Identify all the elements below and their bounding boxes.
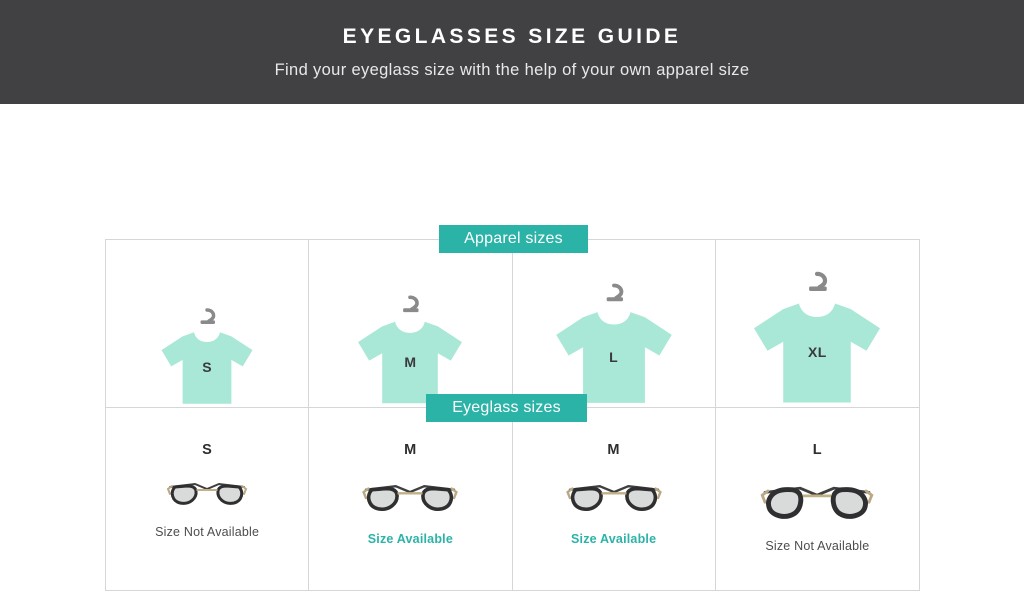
page-title: EYEGLASSES SIZE GUIDE: [343, 25, 682, 49]
eyeglass-cell-l: L Size Not Available: [716, 408, 919, 591]
availability-label: Size Available: [571, 532, 656, 546]
eyeglasses-icon: [360, 474, 460, 515]
apparel-size-label: M: [404, 354, 416, 370]
eyeglass-cell-m-1: M Size Available: [309, 408, 512, 591]
apparel-cell-m: M: [309, 240, 512, 408]
tshirt-graphic-xl: XL: [749, 269, 885, 407]
eyeglass-sizes-banner: Eyeglass sizes: [426, 394, 587, 422]
tshirt-graphic-m: M: [354, 293, 466, 407]
eyeglass-cell-m-2: M Size Available: [513, 408, 716, 591]
apparel-sizes-banner: Apparel sizes: [439, 225, 588, 253]
size-guide-table-area: Apparel sizes Eyeglass sizes S: [0, 104, 1024, 518]
apparel-size-label: L: [609, 349, 618, 365]
apparel-cell-l: L: [513, 240, 716, 408]
eyeglass-size-label: M: [404, 442, 416, 458]
eyeglass-size-label: M: [607, 442, 619, 458]
apparel-size-label: XL: [808, 344, 827, 360]
availability-label: Size Not Available: [155, 525, 259, 539]
eyeglasses-icon: [564, 474, 664, 515]
apparel-size-label: S: [202, 359, 212, 375]
apparel-cell-xl: XL: [716, 240, 919, 408]
eyeglass-cell-s: S Size Not Available: [106, 408, 309, 591]
eyeglasses-icon: [165, 474, 249, 508]
availability-label: Size Not Available: [765, 539, 869, 553]
eyeglass-size-label: S: [202, 442, 212, 458]
tshirt-graphic-s: S: [158, 306, 256, 407]
tshirt-graphic-l: L: [552, 281, 676, 407]
eyeglasses-icon: [758, 474, 876, 522]
page-subtitle: Find your eyeglass size with the help of…: [275, 61, 750, 80]
page-header: EYEGLASSES SIZE GUIDE Find your eyeglass…: [0, 0, 1024, 104]
apparel-cell-s: S: [106, 240, 309, 408]
eyeglass-size-label: L: [813, 442, 822, 458]
availability-label: Size Available: [368, 532, 453, 546]
